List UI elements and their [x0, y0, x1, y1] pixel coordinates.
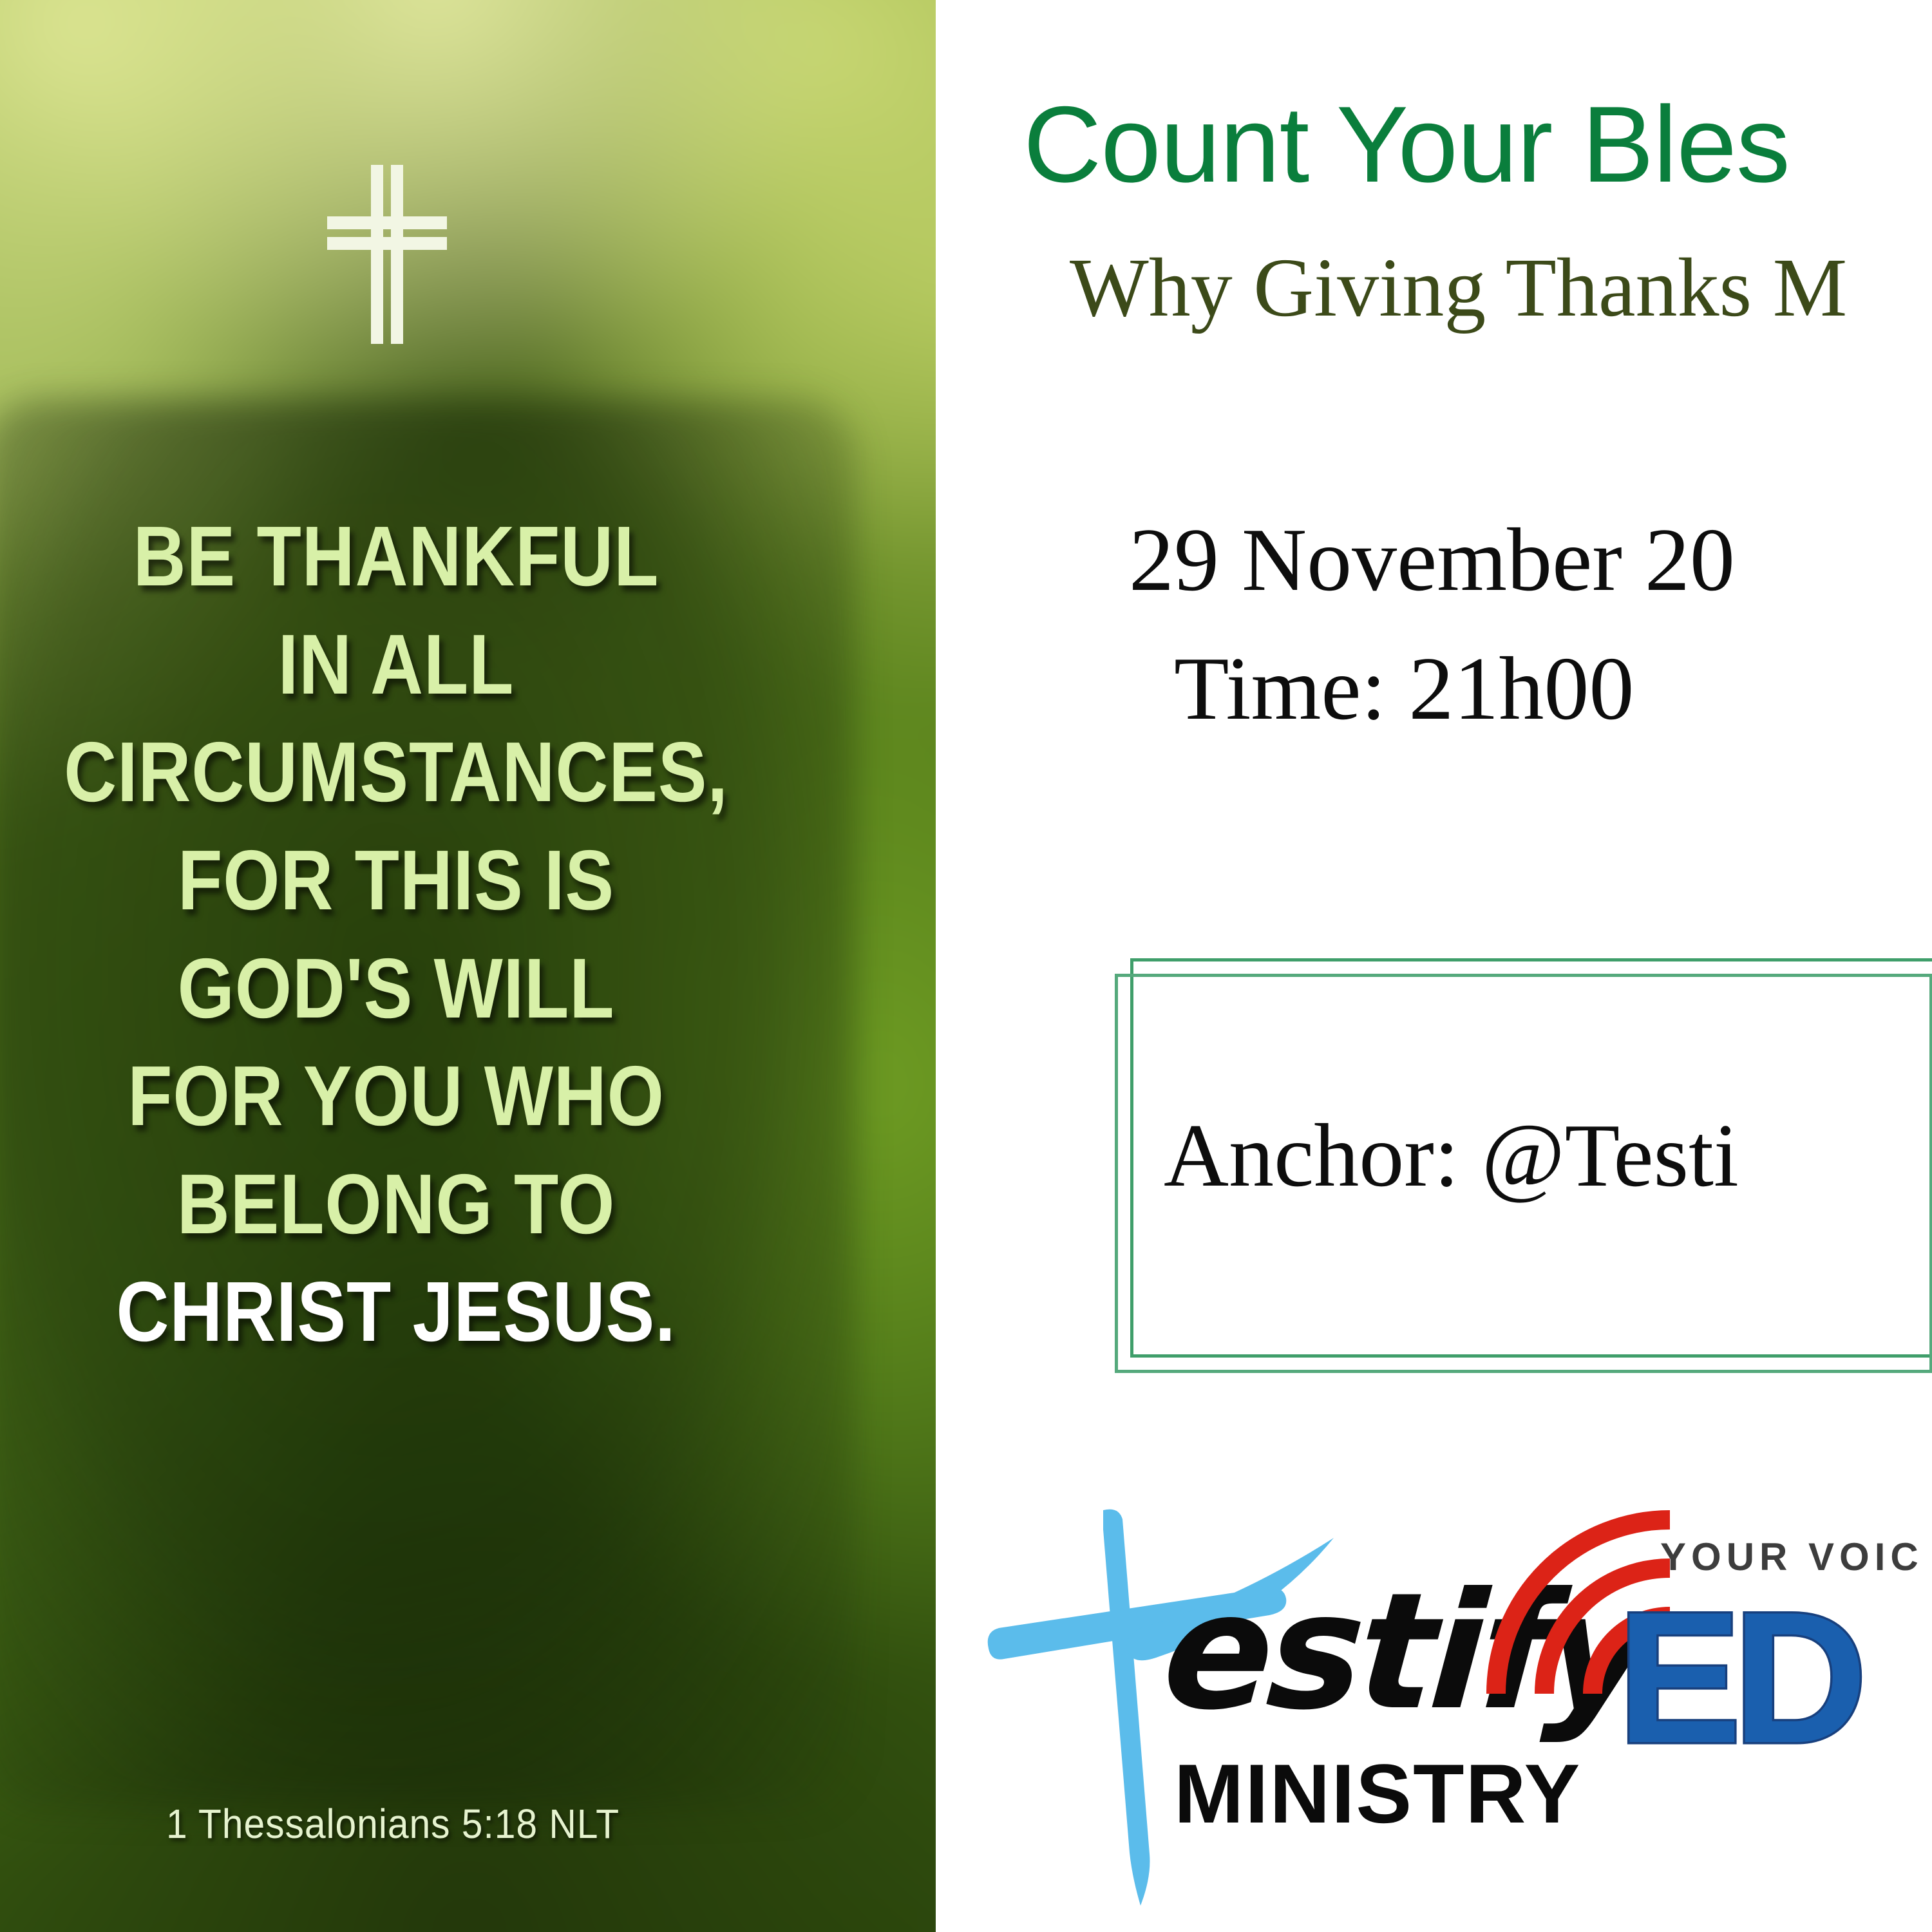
scripture-reference: 1 Thessalonians 5:18 NLT	[32, 1800, 754, 1848]
anchor-callout-box: Anchor: @Testi	[1122, 966, 1932, 1365]
event-subtitle: Why Giving Thanks M	[1070, 246, 1847, 330]
presentation-slide: BE THANKFUL IN ALL CIRCUMSTANCES, FOR TH…	[0, 0, 1932, 1932]
verse-text-block: BE THANKFUL IN ALL CIRCUMSTANCES, FOR TH…	[55, 502, 737, 1366]
radio-wordmark: ED	[1617, 1584, 1859, 1771]
scripture-image-panel: BE THANKFUL IN ALL CIRCUMSTANCES, FOR TH…	[0, 0, 936, 1932]
event-time: Time: 21h00	[1174, 644, 1634, 734]
verse-line: FOR YOU WHO	[55, 1042, 737, 1150]
verse-line: CHRIST JESUS.	[55, 1258, 737, 1366]
verse-line: BELONG TO	[55, 1150, 737, 1258]
radio-tagline: YOUR VOIC	[1660, 1538, 1924, 1577]
verse-line: BE THANKFUL	[55, 502, 737, 611]
event-details-panel: Count Your Bles Why Giving Thanks M 29 N…	[936, 0, 1932, 1932]
radio-station-logo: YOUR VOIC ED	[1477, 1501, 1932, 1887]
event-title: Count Your Bles	[1023, 90, 1790, 198]
cross-icon	[305, 161, 466, 348]
testify-ministry-logo: estify MINISTRY	[981, 1494, 1444, 1919]
event-date: 29 November 20	[1129, 515, 1735, 605]
verse-line: IN ALL	[55, 611, 737, 719]
verse-line: CIRCUMSTANCES,	[55, 718, 737, 826]
anchor-handle-text: Anchor: @Testi	[1164, 1111, 1739, 1201]
verse-line: FOR THIS IS	[55, 826, 737, 934]
verse-line: GOD'S WILL	[55, 934, 737, 1043]
